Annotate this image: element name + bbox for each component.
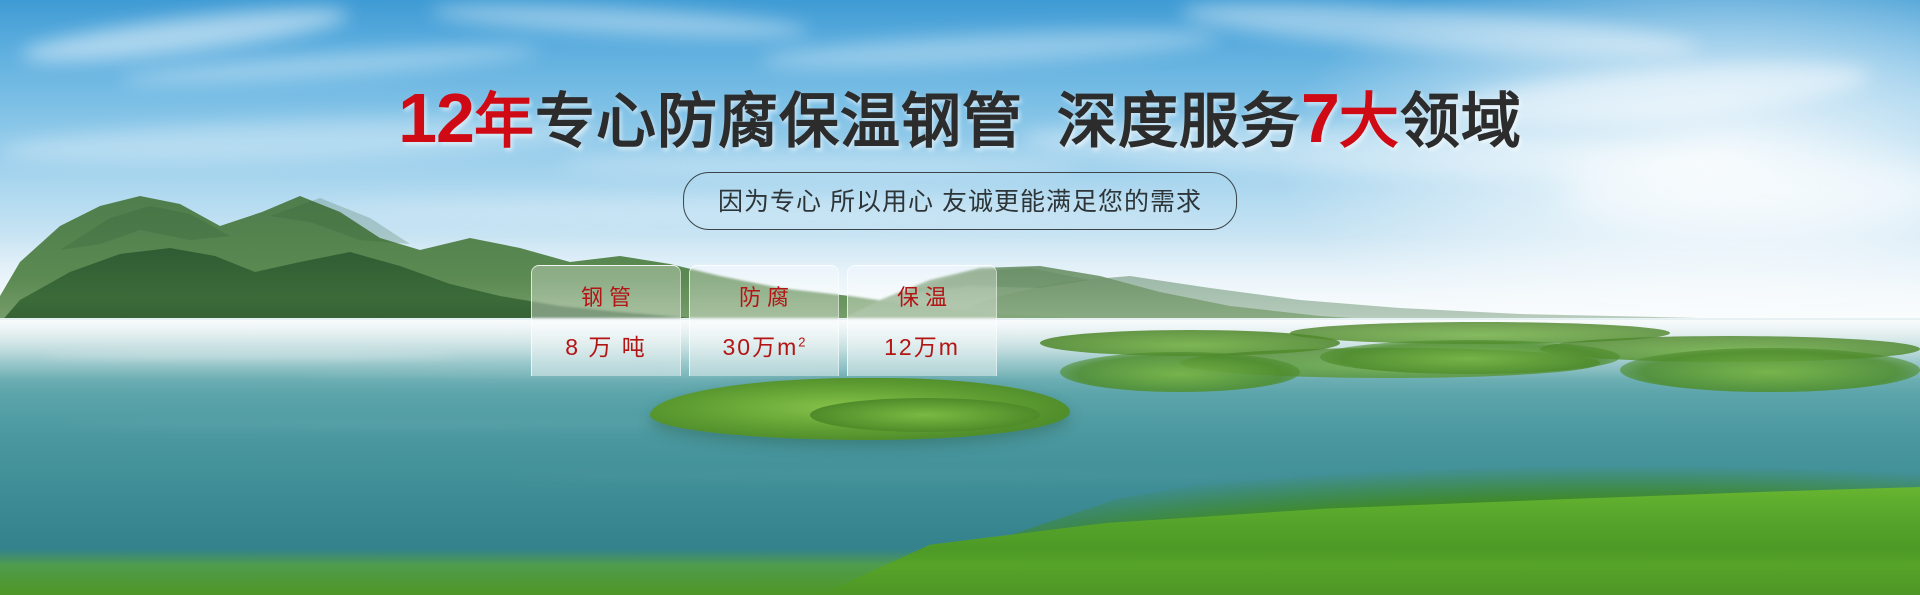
- hero-banner: 12年专心防腐保温钢管深度服务7大领域 因为专心 所以用心 友诚更能满足您的需求…: [0, 0, 1920, 595]
- grass-islet: [810, 398, 1040, 432]
- headline-years-unit: 年: [474, 88, 535, 155]
- headline-fields-text: 领域: [1400, 88, 1522, 155]
- stat-cards: 钢管 8 万 吨 防腐 30万m2 保温 12万m: [531, 265, 997, 376]
- stat-value-superscript: 2: [798, 334, 805, 349]
- headline-years-number: 12: [398, 79, 474, 157]
- stat-card-label: 保温: [891, 280, 953, 312]
- stat-value-text: 12万m: [884, 334, 960, 360]
- headline-fields-number: 7: [1301, 79, 1339, 157]
- water-streak: [60, 420, 760, 429]
- reed-clump: [1620, 348, 1920, 392]
- headline-service-text: 深度服务: [1057, 88, 1301, 155]
- subtitle-pill: 因为专心 所以用心 友诚更能满足您的需求: [683, 172, 1237, 230]
- page-title: 12年专心防腐保温钢管深度服务7大领域: [0, 86, 1920, 154]
- reed-clump: [1060, 352, 1300, 392]
- stat-card-anticorrosion[interactable]: 防腐 30万m2: [689, 265, 839, 376]
- water-streak: [40, 352, 460, 359]
- stat-value-text: 30万m: [723, 334, 799, 360]
- stat-card-value: 12万m: [884, 328, 960, 362]
- stat-card-value: 30万m2: [723, 328, 806, 362]
- reed-clump: [1320, 340, 1620, 374]
- headline-fields-unit: 大: [1339, 88, 1400, 155]
- stat-card-insulation[interactable]: 保温 12万m: [847, 265, 997, 376]
- headline-main-text: 专心防腐保温钢管: [535, 88, 1023, 155]
- stat-card-label: 防腐: [733, 280, 795, 312]
- water-streak: [500, 470, 1300, 480]
- foreground-grass-strip: [0, 549, 1920, 595]
- stat-card-label: 钢管: [575, 280, 637, 312]
- stat-value-text: 8 万 吨: [565, 334, 647, 360]
- stat-card-value: 8 万 吨: [565, 328, 647, 362]
- stat-card-steel-pipe[interactable]: 钢管 8 万 吨: [531, 265, 681, 376]
